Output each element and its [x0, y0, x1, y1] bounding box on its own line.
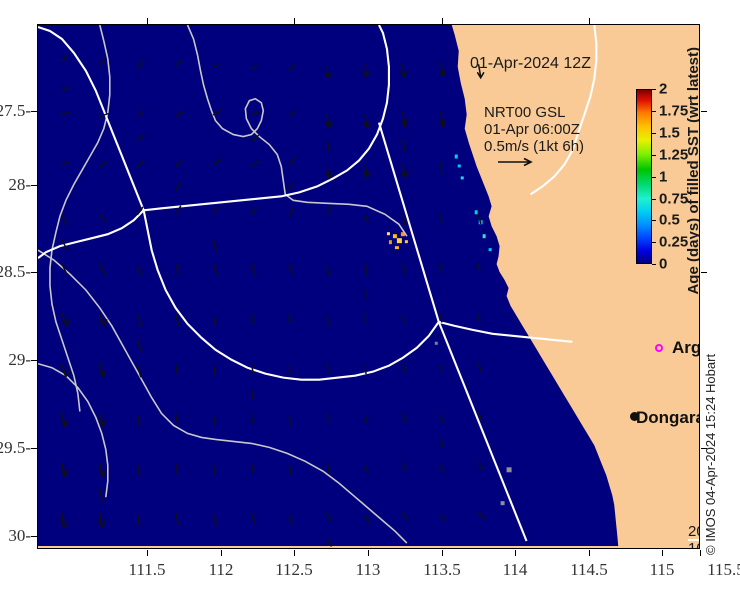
y-tick-label-5: -30 [0, 526, 31, 546]
depth-200m-label: 200m [688, 523, 700, 540]
x-tick-label-8: 115.5 [707, 560, 740, 580]
x-tick-label-1: 112 [209, 560, 234, 580]
copyright-label: © IMOS 04-Apr-2024 15:24 Hobart [703, 354, 718, 555]
x-tick-label-6: 114.5 [570, 560, 608, 580]
colorbar-tick-8: 2 [659, 81, 667, 98]
x-tick-label-3: 113 [356, 560, 381, 580]
timestamp-label: 01-Apr-2024 12Z [470, 55, 591, 73]
colorbar-tick-0: 0 [659, 256, 667, 273]
x-tick-label-0: 111.5 [129, 560, 166, 580]
x-tick-label-7: 115 [650, 560, 675, 580]
argo-label: Argo [672, 338, 700, 358]
depth-200m-line-sample [688, 539, 700, 541]
y-tick-label-1: -28 [0, 175, 31, 195]
vector-scale-label: 0.5m/s (1kt 6h) [484, 138, 584, 155]
y-tick-label-4: -29.5 [0, 438, 31, 458]
map-plot-area[interactable]: 01-Apr-2024 12Z NRT00 GSL 01-Apr 06:00Z … [37, 24, 700, 549]
depth-1000m-label: 1000m [688, 540, 700, 549]
colorbar-tick-6: 1.5 [659, 125, 680, 142]
colorbar-title: Age (days) of filled SST (wrt latest) [685, 47, 700, 295]
y-tick-label-0: -27.5 [0, 101, 31, 121]
depth-contour-legend: 200m 1000m [688, 523, 700, 549]
dongara-label: Dongara [636, 408, 700, 428]
x-tick-label-4: 113.5 [423, 560, 461, 580]
vector-scale-arrow-icon [498, 157, 538, 167]
argo-float-marker[interactable] [655, 344, 663, 352]
colorbar-tick-7: 1.75 [659, 103, 688, 120]
y-tick-label-2: -28.5 [0, 262, 31, 282]
colorbar-gradient [636, 89, 652, 264]
colorbar-tick-4: 1 [659, 169, 667, 186]
source-time-label: 01-Apr 06:00Z [484, 121, 580, 138]
colorbar-tick-1: 0.25 [659, 234, 688, 251]
colorbar-tick-5: 1.25 [659, 147, 688, 164]
source-model-label: NRT00 GSL [484, 104, 565, 121]
x-tick-label-5: 114 [503, 560, 528, 580]
ocean-field [38, 25, 699, 548]
colorbar-tick-3: 0.75 [659, 191, 688, 208]
x-tick-label-2: 112.5 [275, 560, 313, 580]
y-tick-label-3: -29 [0, 350, 31, 370]
colorbar: 0 0.25 0.5 0.75 1 1.25 1.5 1.75 2 [636, 89, 652, 264]
figure-canvas: 01-Apr-2024 12Z NRT00 GSL 01-Apr 06:00Z … [0, 0, 740, 592]
colorbar-tick-2: 0.5 [659, 212, 680, 229]
